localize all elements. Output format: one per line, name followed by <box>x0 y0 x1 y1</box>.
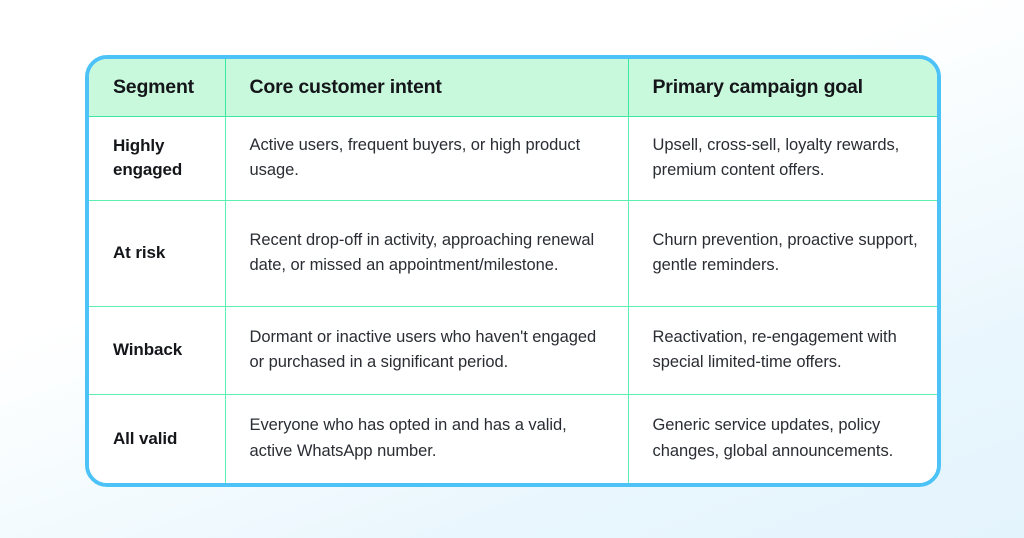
cell-segment-name: Winback <box>89 306 225 394</box>
page-background: Segment Core customer intent Primary cam… <box>0 0 1024 538</box>
table-row: At risk Recent drop-off in activity, app… <box>89 200 937 306</box>
table-row: All valid Everyone who has opted in and … <box>89 394 937 483</box>
cell-segment-name: All valid <box>89 394 225 483</box>
table-header-row: Segment Core customer intent Primary cam… <box>89 59 937 116</box>
column-header-primary-campaign-goal: Primary campaign goal <box>628 59 937 116</box>
column-header-core-customer-intent: Core customer intent <box>225 59 628 116</box>
cell-primary-campaign-goal: Generic service updates, policy changes,… <box>628 394 937 483</box>
table-row: Winback Dormant or inactive users who ha… <box>89 306 937 394</box>
segment-table-card: Segment Core customer intent Primary cam… <box>85 55 941 487</box>
cell-core-customer-intent: Dormant or inactive users who haven't en… <box>225 306 628 394</box>
cell-primary-campaign-goal: Churn prevention, proactive support, gen… <box>628 200 937 306</box>
table-header: Segment Core customer intent Primary cam… <box>89 59 937 116</box>
cell-segment-name: Highly engaged <box>89 116 225 200</box>
column-header-segment: Segment <box>89 59 225 116</box>
cell-core-customer-intent: Recent drop-off in activity, approaching… <box>225 200 628 306</box>
cell-primary-campaign-goal: Upsell, cross-sell, loyalty rewards, pre… <box>628 116 937 200</box>
segment-table: Segment Core customer intent Primary cam… <box>89 59 937 483</box>
cell-segment-name: At risk <box>89 200 225 306</box>
cell-core-customer-intent: Active users, frequent buyers, or high p… <box>225 116 628 200</box>
cell-core-customer-intent: Everyone who has opted in and has a vali… <box>225 394 628 483</box>
table-body: Highly engaged Active users, frequent bu… <box>89 116 937 483</box>
table-row: Highly engaged Active users, frequent bu… <box>89 116 937 200</box>
cell-primary-campaign-goal: Reactivation, re-engagement with special… <box>628 306 937 394</box>
